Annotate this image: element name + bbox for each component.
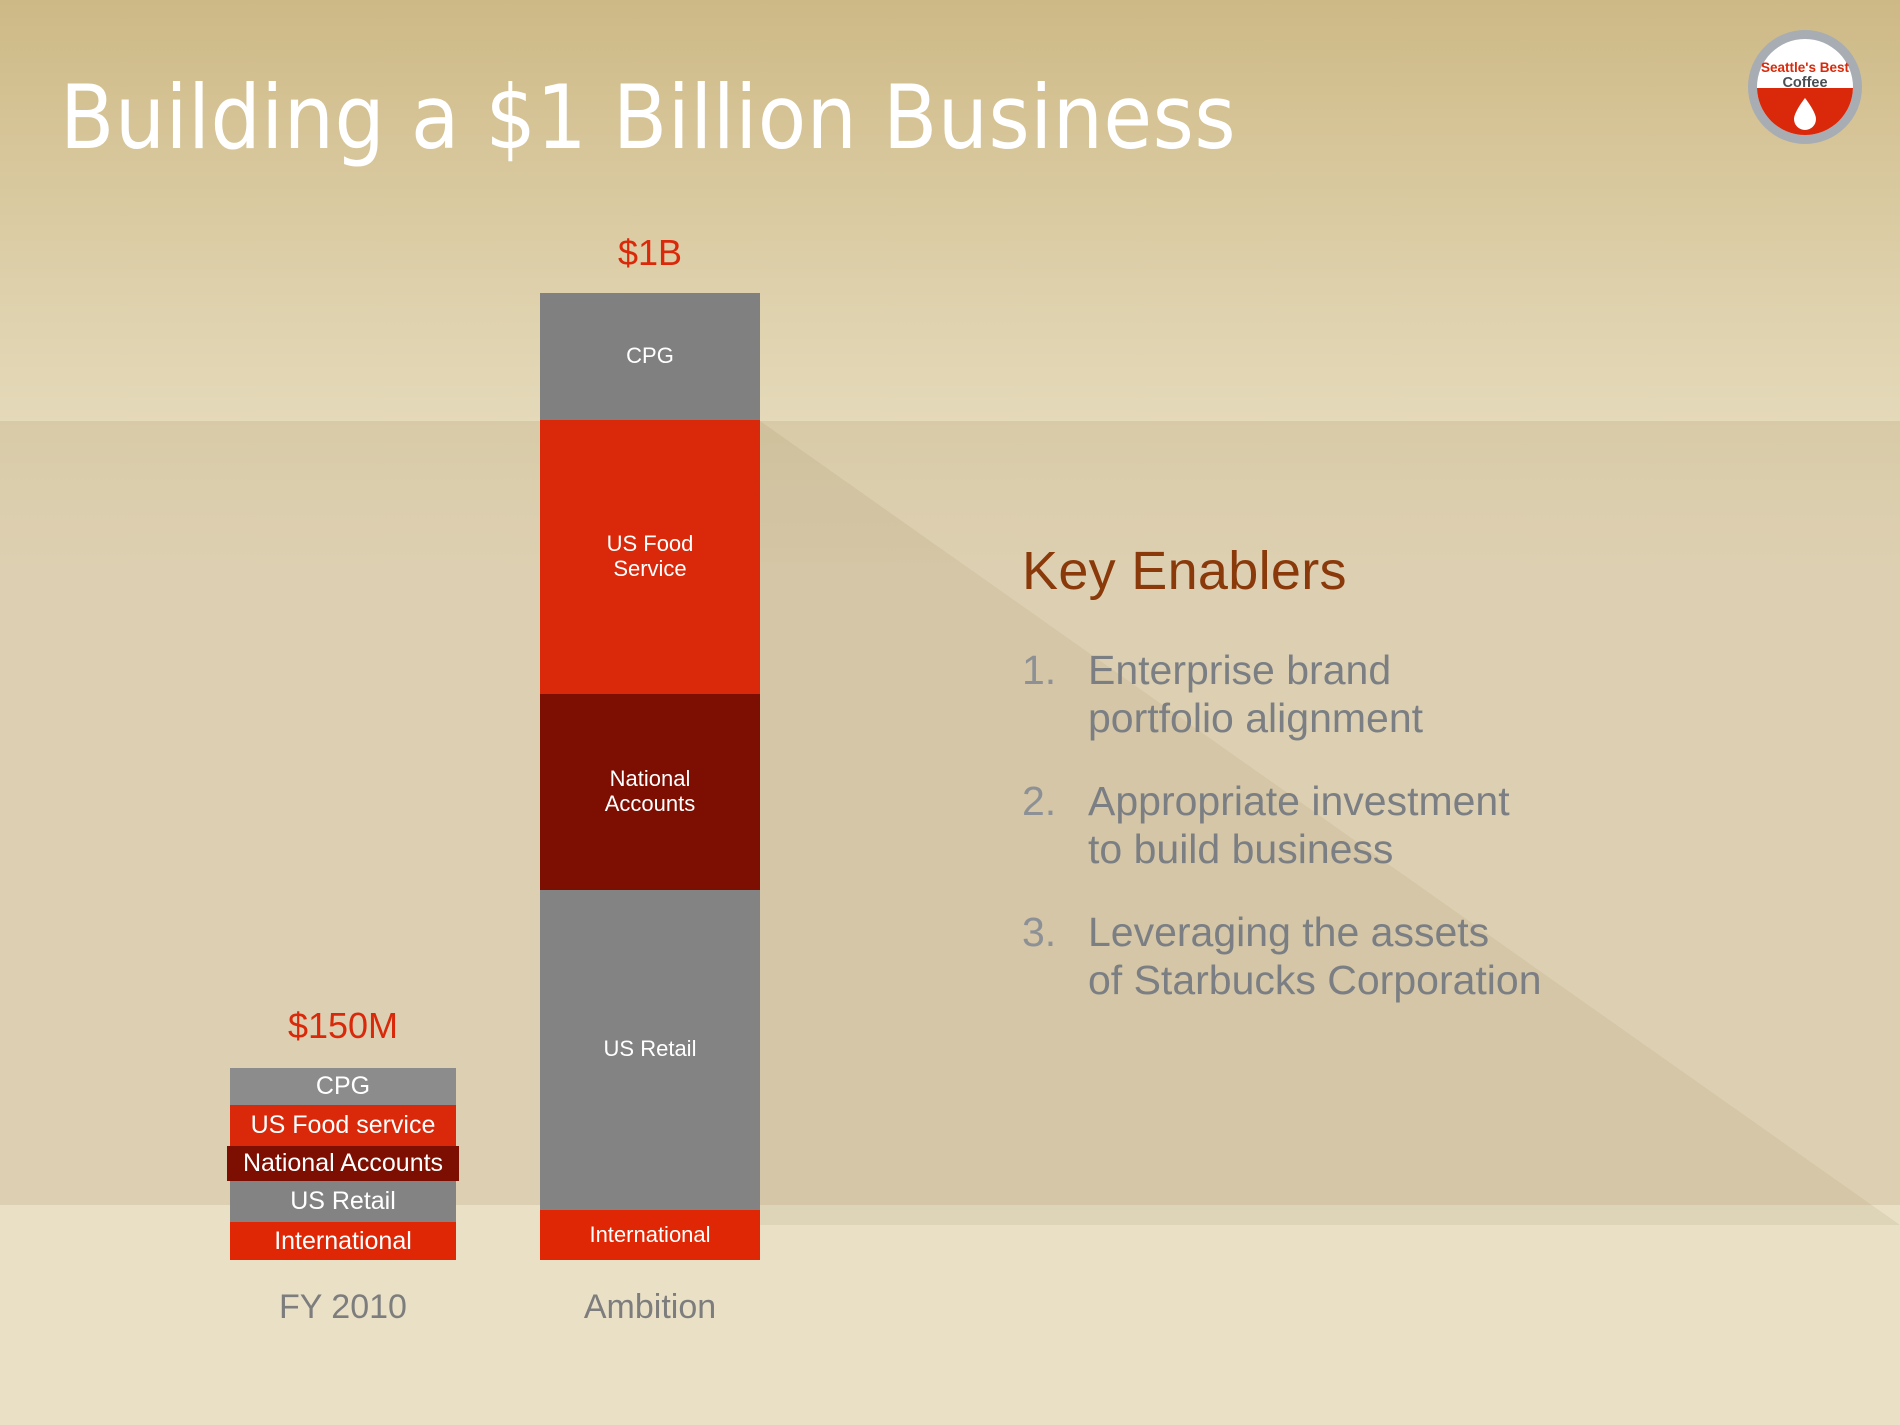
bar-segment-label: CPG [626, 344, 674, 369]
bar-segment-label: US Retail [604, 1037, 697, 1062]
key-enablers-heading: Key Enablers [1022, 540, 1862, 602]
bar-segment-fy2010-4[interactable]: International [230, 1222, 456, 1260]
logo-line2-text: Coffee [1782, 75, 1827, 91]
key-enabler-text: Enterprise brand portfolio alignment [1088, 646, 1862, 743]
bar-segment-ambition-3[interactable]: US Retail [540, 890, 760, 1210]
key-enabler-text: Leveraging the assets of Starbucks Corpo… [1088, 908, 1862, 1005]
key-enabler-number: 2. [1022, 777, 1088, 825]
logo-line1-text: Seattle's Best [1761, 60, 1850, 75]
key-enabler-number: 3. [1022, 908, 1088, 956]
bar-segment-label: US Retail [290, 1187, 396, 1215]
bar-segment-fy2010-1[interactable]: US Food service [230, 1105, 456, 1146]
key-enabler-item-1: 1.Enterprise brand portfolio alignment [1022, 646, 1862, 743]
axis-label-fy2010: FY 2010 [143, 1288, 543, 1327]
bar-segment-ambition-2[interactable]: National Accounts [540, 694, 760, 889]
stacked-bar-fy2010[interactable]: CPGUS Food serviceNational AccountsUS Re… [230, 1068, 456, 1260]
key-enablers-list: 1.Enterprise brand portfolio alignment2.… [1022, 646, 1862, 1004]
key-enabler-item-3: 3.Leveraging the assets of Starbucks Cor… [1022, 908, 1862, 1005]
bar-segment-fy2010-0[interactable]: CPG [230, 1068, 456, 1105]
bar-segment-ambition-4[interactable]: International [540, 1210, 760, 1260]
bar-segment-label: International [274, 1227, 412, 1255]
key-enablers-panel: Key Enablers 1.Enterprise brand portfoli… [1022, 540, 1862, 1038]
bar-segment-label: US Food service [251, 1111, 436, 1139]
bar-value-label-fy2010: $150M [133, 1005, 553, 1047]
presentation-slide: Building a $1 Billion Business Seattle's… [0, 0, 1900, 1425]
key-enabler-text: Appropriate investment to build business [1088, 777, 1862, 874]
bar-segment-fy2010-2[interactable]: National Accounts [227, 1146, 459, 1181]
bar-segment-label: National Accounts [605, 767, 696, 816]
key-enabler-item-2: 2.Appropriate investment to build busine… [1022, 777, 1862, 874]
bar-segment-ambition-0[interactable]: CPG [540, 293, 760, 420]
bar-segment-fy2010-3[interactable]: US Retail [230, 1181, 456, 1222]
page-title: Building a $1 Billion Business [60, 74, 1236, 162]
stacked-bar-ambition[interactable]: CPGUS Food ServiceNational AccountsUS Re… [540, 293, 760, 1260]
bar-segment-ambition-1[interactable]: US Food Service [540, 420, 760, 695]
bar-segment-label: National Accounts [243, 1149, 443, 1177]
bar-segment-label: International [589, 1223, 710, 1248]
bar-segment-label: US Food Service [607, 532, 694, 581]
key-enabler-number: 1. [1022, 646, 1088, 694]
bar-segment-label: CPG [316, 1072, 370, 1100]
axis-label-ambition: Ambition [450, 1288, 850, 1327]
seattles-best-coffee-logo: Seattle's Best Coffee [1746, 28, 1864, 146]
bar-value-label-ambition: $1B [440, 232, 860, 274]
